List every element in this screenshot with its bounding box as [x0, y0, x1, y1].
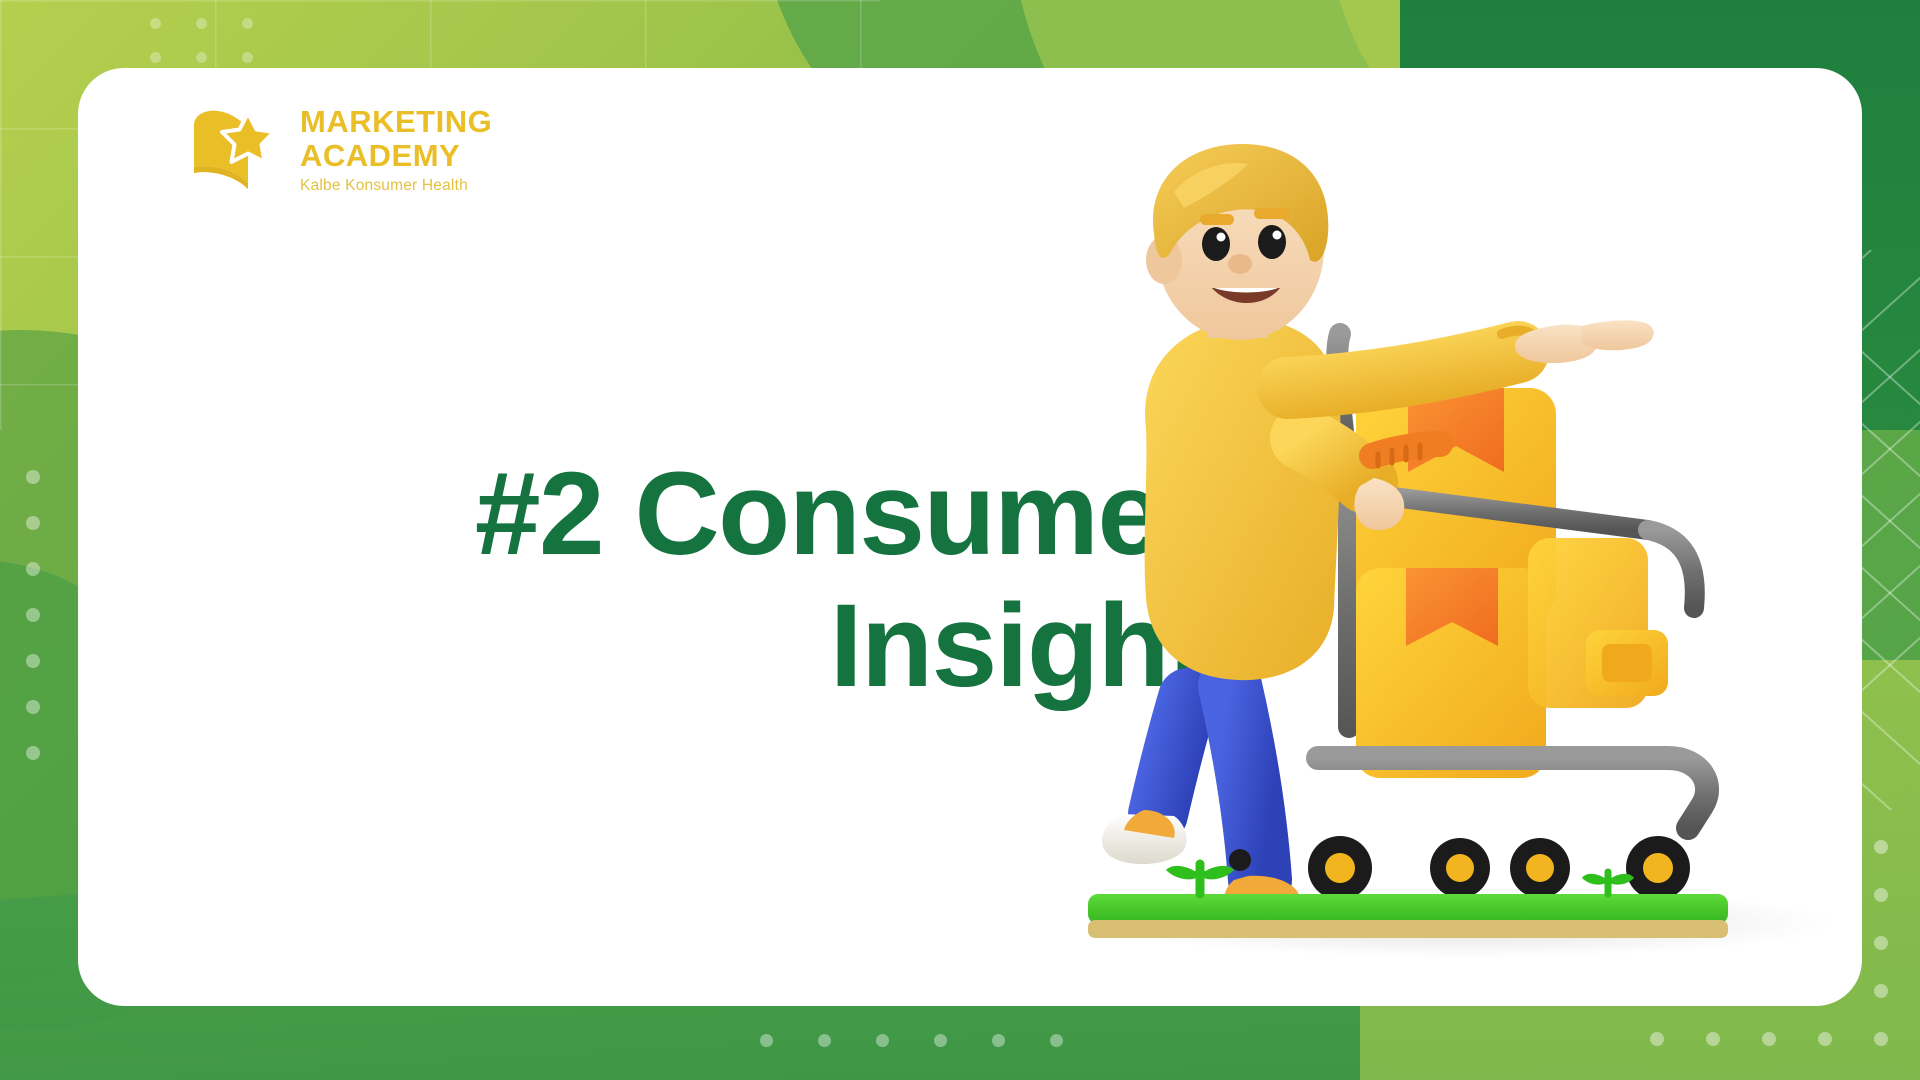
shopper-pushing-cart-illustration: [1088, 138, 1848, 968]
cart-wheel: [1430, 838, 1490, 898]
page-title: #2 Consumer Insight: [186, 448, 1206, 712]
decor-dots-top-left: [150, 18, 270, 68]
brand-logo: MARKETING ACADEMY Kalbe Konsumer Health: [186, 102, 492, 194]
book-with-star-icon: [186, 105, 282, 191]
logo-tagline: Kalbe Konsumer Health: [300, 178, 492, 194]
cart-wheel: [1308, 836, 1372, 900]
page-title-line-1: #2 Consumer: [186, 448, 1206, 580]
content-card: MARKETING ACADEMY Kalbe Konsumer Health …: [78, 68, 1862, 1006]
logo-line-2: ACADEMY: [300, 140, 492, 171]
page-title-line-2: Insight: [186, 580, 1206, 712]
shoe-back: [1102, 810, 1187, 864]
cart-undercarriage: [1308, 758, 1707, 900]
title-slide: MARKETING ACADEMY Kalbe Konsumer Health …: [0, 0, 1920, 1080]
cart-wheel: [1510, 838, 1570, 898]
logo-line-1: MARKETING: [300, 106, 492, 137]
grass-sprout: [1582, 872, 1634, 894]
cart-wheel: [1626, 836, 1690, 900]
